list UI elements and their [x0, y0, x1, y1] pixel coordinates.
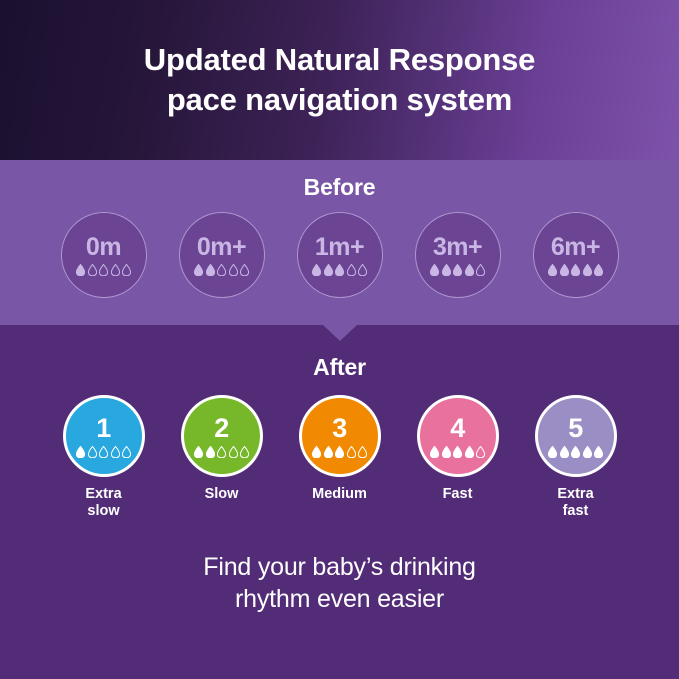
droplet-filled-icon — [465, 446, 474, 458]
before-circle-row: 0m0m+1m+3m+6m+ — [0, 212, 679, 298]
header-banner: Updated Natural Response pace navigation… — [0, 0, 679, 160]
after-flow-label: Extra slow — [85, 486, 121, 520]
droplet-filled-icon — [324, 446, 333, 458]
transition-arrow-container — [0, 325, 679, 347]
droplet-filled-icon — [453, 446, 462, 458]
droplet-filled-icon — [453, 264, 462, 276]
after-item-2: 2Slow — [171, 395, 273, 503]
droplet-filled-icon — [312, 264, 321, 276]
droplet-filled-icon — [583, 446, 592, 458]
droplet-empty-icon — [88, 446, 97, 458]
droplet-empty-icon — [229, 446, 238, 458]
droplet-filled-icon — [335, 264, 344, 276]
before-section: Before 0m0m+1m+3m+6m+ — [0, 160, 679, 325]
tagline: Find your baby’s drinking rhythm even ea… — [0, 551, 679, 615]
after-droplet-indicator — [76, 446, 131, 458]
before-item-1mplus: 1m+ — [289, 212, 391, 298]
before-item-0mplus: 0m+ — [171, 212, 273, 298]
after-circle-4: 4 — [417, 395, 499, 477]
droplet-empty-icon — [217, 446, 226, 458]
droplet-filled-icon — [76, 446, 85, 458]
droplet-empty-icon — [476, 264, 485, 276]
droplet-filled-icon — [206, 264, 215, 276]
after-flow-number: 5 — [568, 415, 583, 442]
chevron-down-arrow-icon — [323, 325, 357, 341]
after-item-3: 3Medium — [289, 395, 391, 503]
after-item-5: 5Extra fast — [525, 395, 627, 520]
droplet-empty-icon — [358, 264, 367, 276]
droplet-empty-icon — [111, 446, 120, 458]
before-droplet-indicator — [194, 264, 249, 276]
after-flow-label: Fast — [443, 486, 473, 503]
after-flow-label: Extra fast — [557, 486, 593, 520]
droplet-filled-icon — [206, 446, 215, 458]
droplet-empty-icon — [229, 264, 238, 276]
droplet-empty-icon — [347, 264, 356, 276]
tagline-line-2: rhythm even easier — [0, 583, 679, 615]
page-title-line-1: Updated Natural Response — [144, 40, 535, 80]
droplet-filled-icon — [430, 264, 439, 276]
before-droplet-indicator — [548, 264, 603, 276]
droplet-empty-icon — [240, 446, 249, 458]
droplet-filled-icon — [442, 446, 451, 458]
after-flow-number: 3 — [332, 415, 347, 442]
after-droplet-indicator — [430, 446, 485, 458]
before-age-label: 0m+ — [197, 234, 246, 260]
droplet-empty-icon — [122, 446, 131, 458]
droplet-filled-icon — [594, 264, 603, 276]
before-droplet-indicator — [76, 264, 131, 276]
after-droplet-indicator — [548, 446, 603, 458]
droplet-filled-icon — [548, 446, 557, 458]
droplet-filled-icon — [571, 264, 580, 276]
before-circle: 6m+ — [533, 212, 619, 298]
before-item-3mplus: 3m+ — [407, 212, 509, 298]
droplet-empty-icon — [476, 446, 485, 458]
droplet-filled-icon — [76, 264, 85, 276]
droplet-filled-icon — [583, 264, 592, 276]
before-droplet-indicator — [430, 264, 485, 276]
before-age-label: 1m+ — [315, 234, 364, 260]
before-circle: 1m+ — [297, 212, 383, 298]
before-age-label: 3m+ — [433, 234, 482, 260]
after-flow-number: 1 — [96, 415, 111, 442]
before-age-label: 6m+ — [551, 234, 600, 260]
droplet-empty-icon — [99, 264, 108, 276]
droplet-filled-icon — [194, 446, 203, 458]
before-age-label: 0m — [86, 234, 121, 260]
tagline-line-1: Find your baby’s drinking — [0, 551, 679, 583]
after-item-1: 1Extra slow — [53, 395, 155, 520]
droplet-empty-icon — [358, 446, 367, 458]
droplet-filled-icon — [594, 446, 603, 458]
droplet-filled-icon — [548, 264, 557, 276]
after-flow-label: Slow — [205, 486, 239, 503]
page-title-line-2: pace navigation system — [167, 80, 512, 120]
after-droplet-indicator — [312, 446, 367, 458]
droplet-empty-icon — [240, 264, 249, 276]
before-circle: 0m — [61, 212, 147, 298]
before-item-0m: 0m — [53, 212, 155, 298]
droplet-filled-icon — [571, 446, 580, 458]
droplet-empty-icon — [88, 264, 97, 276]
after-flow-number: 2 — [214, 415, 229, 442]
after-circle-2: 2 — [181, 395, 263, 477]
droplet-filled-icon — [465, 264, 474, 276]
after-circle-3: 3 — [299, 395, 381, 477]
droplet-filled-icon — [194, 264, 203, 276]
before-item-6mplus: 6m+ — [525, 212, 627, 298]
after-circle-5: 5 — [535, 395, 617, 477]
droplet-empty-icon — [347, 446, 356, 458]
before-circle: 0m+ — [179, 212, 265, 298]
after-heading: After — [0, 354, 679, 381]
droplet-empty-icon — [111, 264, 120, 276]
droplet-empty-icon — [122, 264, 131, 276]
after-flow-number: 4 — [450, 415, 465, 442]
droplet-filled-icon — [430, 446, 439, 458]
after-circle-row: 1Extra slow2Slow3Medium4Fast5Extra fast — [0, 395, 679, 520]
droplet-empty-icon — [99, 446, 108, 458]
before-heading: Before — [0, 174, 679, 201]
droplet-empty-icon — [217, 264, 226, 276]
after-droplet-indicator — [194, 446, 249, 458]
droplet-filled-icon — [324, 264, 333, 276]
after-flow-label: Medium — [312, 486, 367, 503]
droplet-filled-icon — [312, 446, 321, 458]
droplet-filled-icon — [560, 264, 569, 276]
before-droplet-indicator — [312, 264, 367, 276]
after-circle-1: 1 — [63, 395, 145, 477]
droplet-filled-icon — [442, 264, 451, 276]
after-item-4: 4Fast — [407, 395, 509, 503]
after-section: After 1Extra slow2Slow3Medium4Fast5Extra… — [0, 347, 679, 679]
droplet-filled-icon — [335, 446, 344, 458]
before-circle: 3m+ — [415, 212, 501, 298]
droplet-filled-icon — [560, 446, 569, 458]
